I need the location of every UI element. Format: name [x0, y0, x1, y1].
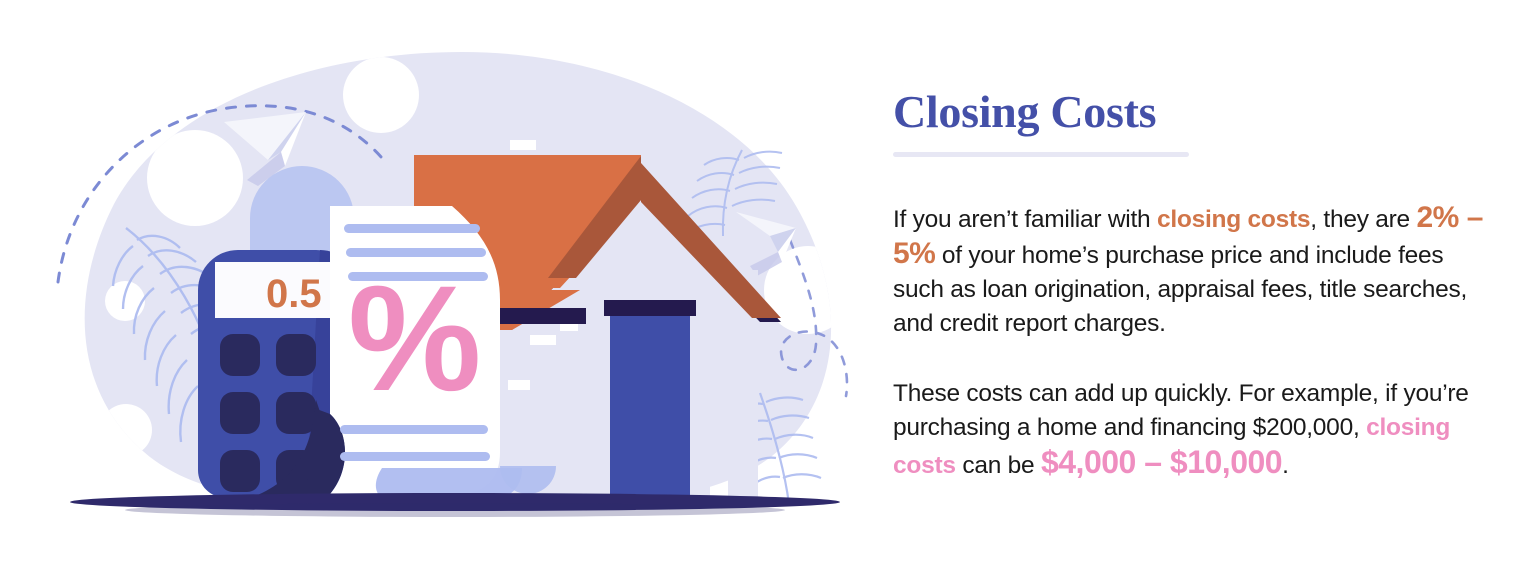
paragraph-one: If you aren’t familiar with closing cost…: [893, 201, 1483, 341]
ground-shadow-soft: [125, 503, 785, 517]
paragraph-two: These costs can add up quickly. For exam…: [893, 377, 1483, 483]
p2-highlight-dollar-range: $4,000 – $10,000: [1041, 444, 1282, 480]
calculator-display-value: 0.5: [266, 272, 322, 316]
p2-text-segment-2: can be: [956, 452, 1041, 479]
text-column: Closing Costs If you aren’t familiar wit…: [893, 88, 1493, 483]
house-door: [604, 300, 696, 502]
p1-text-segment-3: of your home’s purchase price and includ…: [893, 242, 1467, 337]
closing-costs-illustration: 0.5: [0, 0, 880, 583]
closing-costs-infographic: 0.5: [0, 0, 1536, 583]
receipt-percent-symbol: %: [348, 254, 481, 422]
p2-text-segment-3: .: [1282, 452, 1289, 479]
p1-text-segment-1: If you aren’t familiar with: [893, 206, 1157, 233]
p1-text-segment-2: , they are: [1310, 206, 1416, 233]
p1-highlight-closing-costs: closing costs: [1157, 206, 1310, 233]
title-divider: [893, 152, 1189, 157]
page-title: Closing Costs: [893, 88, 1493, 136]
